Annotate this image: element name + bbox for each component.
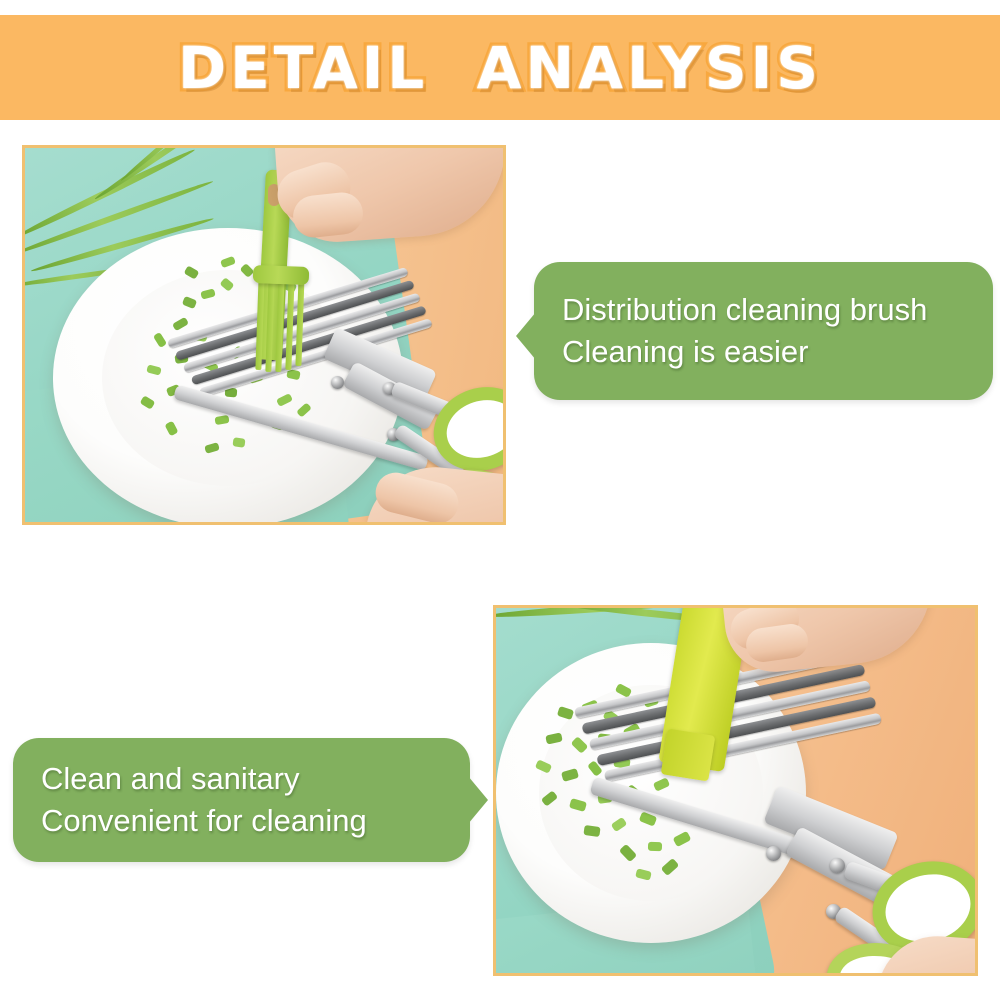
scissors-rivet xyxy=(331,376,344,389)
callout-tail-left-icon xyxy=(516,312,536,360)
product-detail-page: DETAIL ANALYSIS xyxy=(0,0,1000,1000)
callout-sanitary: Clean and sanitary Convenient for cleani… xyxy=(13,738,470,862)
callout-tail-right-icon xyxy=(468,776,488,824)
callout-line: Distribution cleaning brush xyxy=(562,289,965,331)
callout-line: Convenient for cleaning xyxy=(41,800,442,842)
scissors-rivet xyxy=(830,858,845,873)
cleaning-comb-spine xyxy=(253,265,310,285)
product-photo-top-left xyxy=(22,145,506,525)
header-banner: DETAIL ANALYSIS xyxy=(0,15,1000,120)
scissors-rivet xyxy=(766,846,781,861)
cleaning-brush-tip xyxy=(661,729,716,782)
photo-scene-1 xyxy=(25,148,503,522)
page-title: DETAIL ANALYSIS xyxy=(178,34,822,102)
photo-scene-2 xyxy=(496,608,975,973)
callout-line: Cleaning is easier xyxy=(562,331,965,373)
chopped-chive xyxy=(583,825,600,837)
chopped-chive xyxy=(648,842,662,851)
chopped-chive xyxy=(232,437,245,448)
callout-brush: Distribution cleaning brush Cleaning is … xyxy=(534,262,993,400)
product-photo-bottom-right xyxy=(493,605,978,976)
callout-line: Clean and sanitary xyxy=(41,758,442,800)
